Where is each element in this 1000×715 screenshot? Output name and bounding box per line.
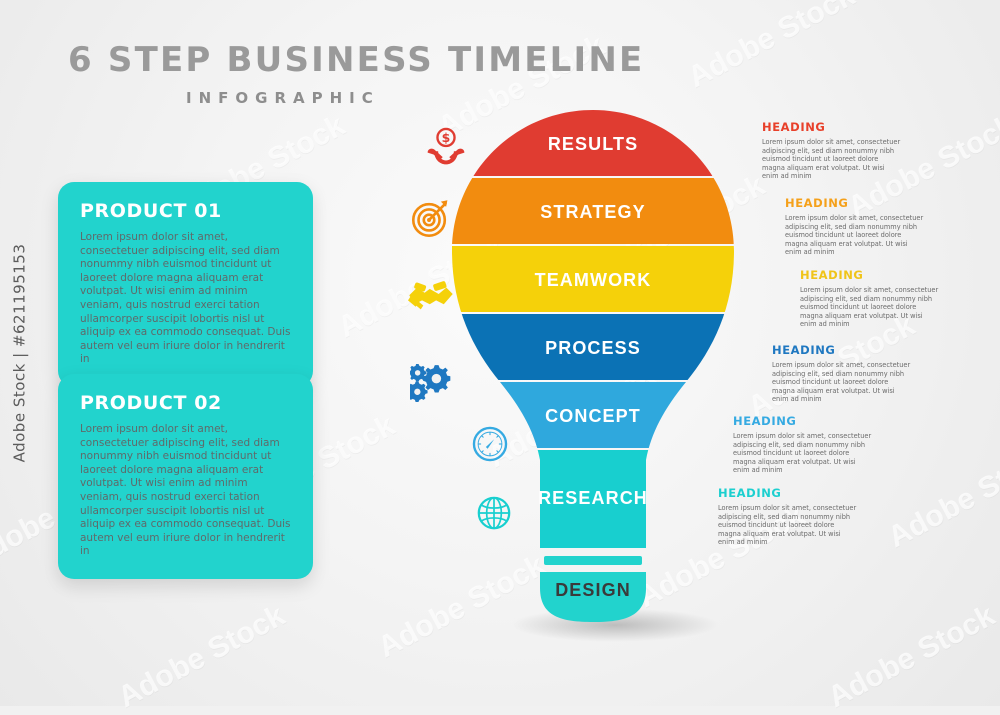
side-block-heading: HEADING [800,268,940,282]
side-block-body: Lorem ipsum dolor sit amet, consectetuer… [762,138,902,181]
side-block-results: HEADING Lorem ipsum dolor sit amet, cons… [762,120,902,181]
side-block-body: Lorem ipsum dolor sit amet, consectetuer… [733,432,873,475]
side-block-concept: HEADING Lorem ipsum dolor sit amet, cons… [733,414,873,475]
segment-process[interactable] [452,314,734,380]
segment-results[interactable] [452,110,734,176]
side-block-body: Lorem ipsum dolor sit amet, consectetuer… [772,361,912,404]
watermark-sidebar: Adobe Stock | #621195153 [0,0,40,706]
side-block-heading: HEADING [785,196,925,210]
product-card-title: PRODUCT 01 [80,200,293,222]
page-title-block: 6 STEP BUSINESS TIMELINE INFOGRAPHIC [68,40,644,107]
watermark-tile: Adobe Stock [883,439,1000,555]
gears-icon [410,360,456,409]
side-block-body: Lorem ipsum dolor sit amet, consectetuer… [718,504,858,547]
side-block-process: HEADING Lorem ipsum dolor sit amet, cons… [772,343,912,404]
watermark-sidebar-text: Adobe Stock | #621195153 [10,244,28,463]
watermark-tile: Adobe Stock [113,599,291,715]
side-block-body: Lorem ipsum dolor sit amet, consectetuer… [800,286,940,329]
segment-design-group[interactable] [532,565,654,622]
watermark-tile: Adobe Stock [683,0,861,95]
segment-design[interactable] [532,565,654,622]
side-block-strategy: HEADING Lorem ipsum dolor sit amet, cons… [785,196,925,257]
side-block-heading: HEADING [718,486,858,500]
svg-text:$: $ [442,130,451,145]
globe-icon [476,495,512,536]
side-block-teamwork: HEADING Lorem ipsum dolor sit amet, cons… [800,268,940,329]
bulb-segments-group [452,110,734,548]
bulb-neck-stripe [544,556,642,565]
side-block-heading: HEADING [762,120,902,134]
lightbulb-svg [452,110,734,622]
segment-teamwork[interactable] [452,246,734,312]
side-block-research: HEADING Lorem ipsum dolor sit amet, cons… [718,486,858,547]
watermark-tile: Adobe Stock [823,599,1000,715]
product-card-01[interactable]: PRODUCT 01 Lorem ipsum dolor sit amet, c… [58,182,313,387]
product-card-02[interactable]: PRODUCT 02 Lorem ipsum dolor sit amet, c… [58,374,313,579]
product-card-body: Lorem ipsum dolor sit amet, consectetuer… [80,423,293,559]
lightbulb-chart: RESULTS STRATEGY TEAMWORK PROCESS CONCEP… [452,110,734,622]
product-card-title: PRODUCT 02 [80,392,293,414]
infographic-canvas: Adobe Stock Adobe Stock Adobe Stock Adob… [0,0,1000,706]
side-block-body: Lorem ipsum dolor sit amet, consectetuer… [785,214,925,257]
handshake-icon [408,274,454,319]
money-hands-icon: $ [425,125,467,172]
page-title: 6 STEP BUSINESS TIMELINE [68,40,644,80]
target-icon [410,197,452,244]
side-block-heading: HEADING [733,414,873,428]
side-block-heading: HEADING [772,343,912,357]
page-subtitle: INFOGRAPHIC [186,89,644,107]
compass-icon [471,425,509,468]
product-card-body: Lorem ipsum dolor sit amet, consectetuer… [80,231,293,367]
segment-strategy[interactable] [452,178,734,244]
